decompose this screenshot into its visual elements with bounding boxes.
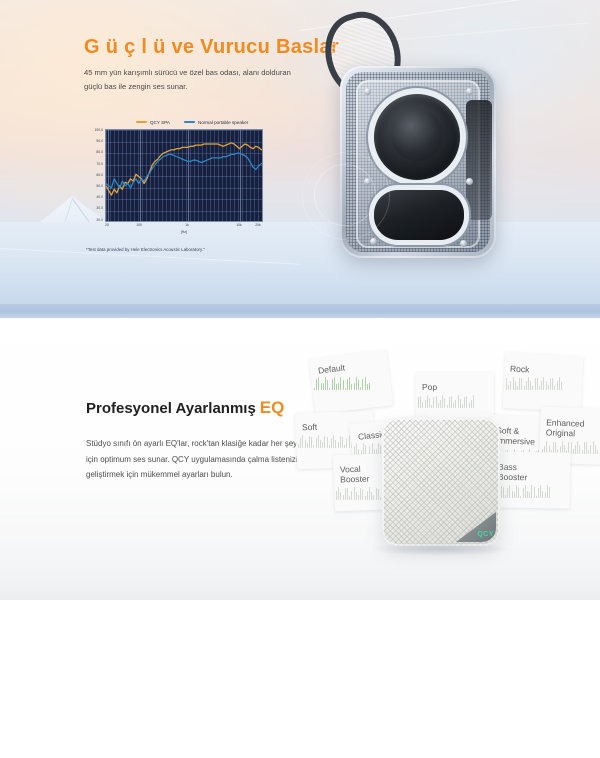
screw-icon bbox=[460, 240, 467, 247]
legend-item-qcy: QCY SPA bbox=[136, 120, 170, 125]
eq-description: Stüdyo sınıfı ön ayarlı EQ'lar, rock'tan… bbox=[86, 436, 301, 483]
chart-y-tick: 90.0 bbox=[96, 140, 103, 143]
bass-heading: G ü ç l ü ve Vurucu Baslar bbox=[84, 36, 339, 59]
eq-preset-label[interactable]: Rock bbox=[510, 363, 530, 374]
eq-waveform-icon bbox=[314, 376, 372, 390]
chart-series-normal-portable-speaker bbox=[106, 153, 263, 188]
speaker-internal-components bbox=[466, 100, 492, 220]
section-bottom-band bbox=[0, 304, 600, 318]
eq-preset-label[interactable]: Soft bbox=[302, 422, 317, 433]
speaker-cutaway-image bbox=[328, 14, 508, 266]
eq-heading-accent: EQ bbox=[260, 398, 285, 417]
chart-x-tick: 100 bbox=[136, 223, 142, 227]
chart-y-tick: 60.0 bbox=[96, 174, 103, 177]
chart-plot-area: 100.090.080.070.060.050.040.030.020.0 20… bbox=[86, 129, 264, 234]
chart-series-layer bbox=[106, 130, 263, 222]
eq-waveform-icon bbox=[506, 376, 564, 390]
chart-canvas bbox=[105, 129, 263, 222]
speaker-shadow bbox=[372, 542, 512, 556]
legend-item-normal: Normal portable speaker bbox=[184, 120, 248, 125]
legend-swatch-qcy bbox=[136, 121, 147, 123]
eq-heading-main: Profesyonel Ayarlanmış bbox=[86, 400, 256, 417]
chart-x-tick: 20 bbox=[105, 223, 109, 227]
chart-y-tick: 50.0 bbox=[96, 185, 103, 188]
chart-gridline bbox=[262, 130, 263, 221]
sound-wave-ring bbox=[302, 152, 390, 240]
frequency-response-chart: QCY SPA Normal portable speaker 100.090.… bbox=[86, 116, 264, 248]
qcy-logo: QCY bbox=[477, 531, 494, 538]
chart-y-tick: 30.0 bbox=[96, 207, 103, 210]
product-detail-page: G ü ç l ü ve Vurucu Baslar 45 mm yün kar… bbox=[0, 0, 600, 600]
qcy-speaker-product-image: QCY bbox=[382, 418, 500, 546]
eq-waveform-icon bbox=[418, 394, 476, 408]
screw-icon bbox=[466, 88, 473, 95]
eq-preset-label[interactable]: Bass Booster bbox=[498, 462, 528, 483]
legend-swatch-normal bbox=[184, 121, 195, 123]
speaker-driver bbox=[374, 94, 460, 180]
eq-preset-label[interactable]: Vocal Booster bbox=[340, 463, 370, 484]
chart-legend: QCY SPA Normal portable speaker bbox=[136, 116, 264, 128]
chart-x-axis-label: [Hz] bbox=[105, 230, 263, 234]
eq-preset-label[interactable]: Soft & Immersive bbox=[496, 425, 536, 446]
chart-y-axis: 100.090.080.070.060.050.040.030.020.0 bbox=[86, 129, 103, 222]
eq-preset-label[interactable]: Pop bbox=[422, 382, 437, 392]
legend-label-normal: Normal portable speaker bbox=[198, 120, 248, 125]
chart-y-tick: 100.0 bbox=[95, 129, 104, 132]
eq-heading: Profesyonel AyarlanmışEQ bbox=[86, 398, 284, 418]
screw-icon bbox=[370, 238, 377, 245]
chart-y-tick: 80.0 bbox=[96, 151, 103, 154]
legend-label-qcy: QCY SPA bbox=[150, 120, 170, 125]
screw-icon bbox=[466, 178, 473, 185]
eq-preset-label[interactable]: Enhanced Original bbox=[546, 417, 585, 438]
chart-x-tick: 1k bbox=[185, 223, 189, 227]
chart-x-tick: 10k bbox=[236, 223, 241, 227]
chart-footnote: *Test data provided by Hele Electronics … bbox=[86, 247, 286, 252]
eq-waveform-icon bbox=[298, 434, 356, 448]
eq-waveform-icon bbox=[494, 484, 552, 498]
chart-y-tick: 20.0 bbox=[96, 219, 103, 222]
chart-y-tick: 40.0 bbox=[96, 196, 103, 199]
screw-icon bbox=[364, 88, 371, 95]
bass-section: G ü ç l ü ve Vurucu Baslar 45 mm yün kar… bbox=[0, 0, 600, 318]
chart-x-tick: 20k bbox=[255, 223, 260, 227]
bass-description: 45 mm yün karışımlı sürücü ve özel bas o… bbox=[84, 66, 296, 94]
chart-y-tick: 70.0 bbox=[96, 163, 103, 166]
